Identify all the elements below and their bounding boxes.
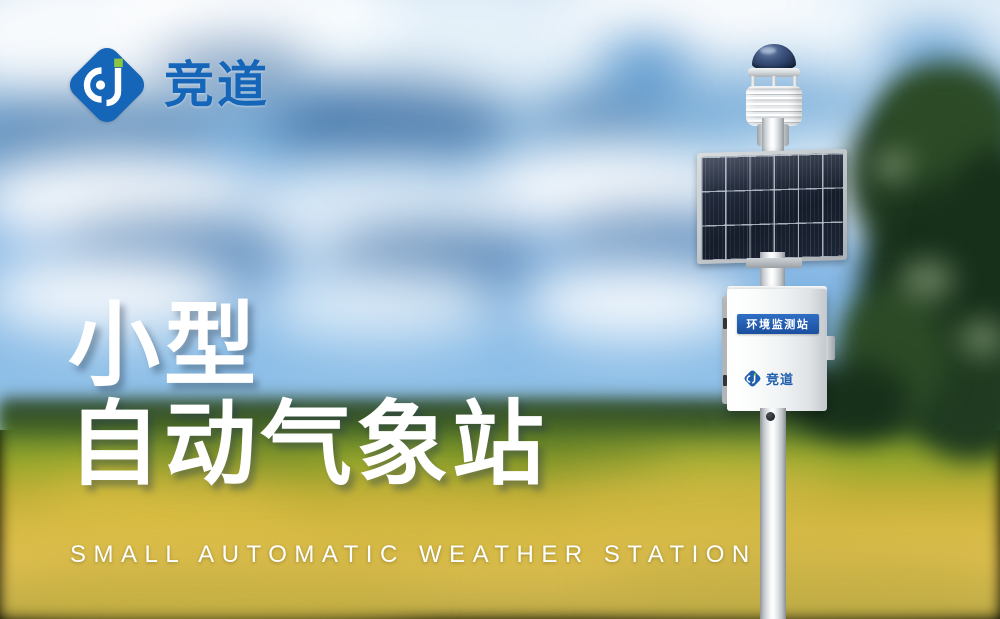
brand-logo[interactable]: 竞道 (66, 44, 270, 126)
jingdao-diamond-logo-icon (66, 44, 148, 126)
hero-title-line-2: 自动气象站 (68, 395, 548, 494)
hero-title: 小型 自动气象站 (68, 296, 548, 495)
hero-title-line-1: 小型 (68, 296, 548, 395)
hero-subtitle: SMALL AUTOMATIC WEATHER STATION (70, 541, 757, 569)
brand-name: 竞道 (164, 60, 270, 110)
product-banner: 环境监测站 竞道 (0, 0, 1000, 619)
